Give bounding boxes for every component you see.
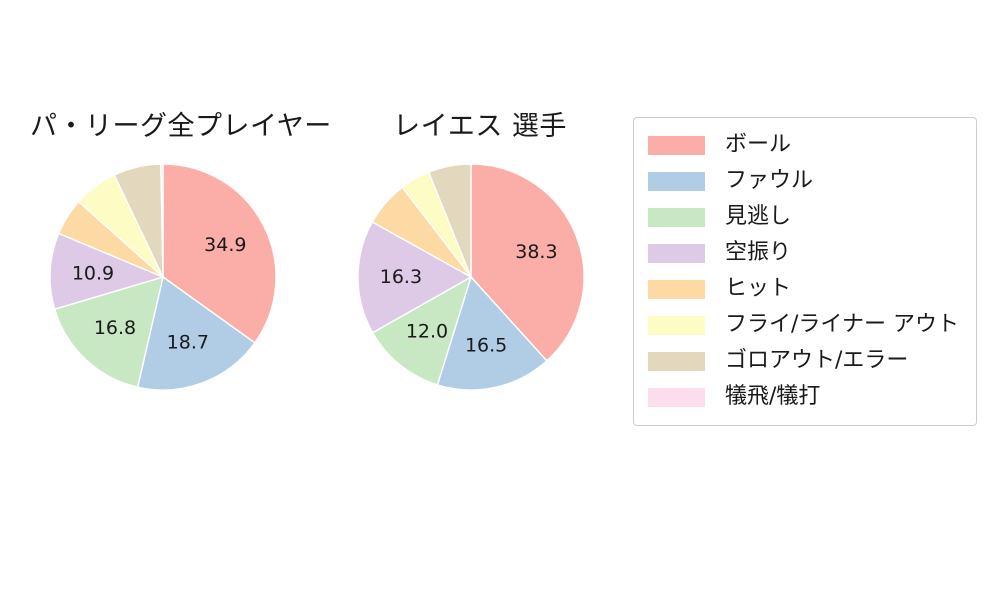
legend-label: 空振り	[725, 240, 791, 266]
legend: ボールファウル見逃し空振りヒットフライ/ライナー アウトゴロアウト/エラー犠飛/…	[633, 117, 977, 426]
legend-swatch	[648, 136, 705, 155]
legend-item[interactable]: ヒット	[648, 271, 964, 307]
pie-slice-value-label: 38.3	[515, 241, 557, 263]
pie-player: 38.316.512.016.3	[330, 162, 630, 412]
legend-swatch	[648, 208, 705, 227]
pie-league: 34.918.716.810.9	[22, 162, 322, 412]
pie-slice-value-label: 18.7	[167, 332, 209, 354]
legend-item[interactable]: ファウル	[648, 163, 964, 199]
legend-item[interactable]: 犠飛/犠打	[648, 379, 964, 415]
legend-swatch	[648, 244, 705, 263]
legend-swatch	[648, 352, 705, 371]
pie-wrap-league: 34.918.716.810.9	[22, 162, 322, 412]
legend-label: 見逃し	[725, 204, 791, 230]
pie-slice-value-label: 12.0	[406, 321, 448, 343]
legend-label: ボール	[725, 132, 791, 158]
legend-label: フライ/ライナー アウト	[725, 312, 959, 338]
pie-panel-league: パ・リーグ全プレイヤー 34.918.716.810.9	[22, 110, 322, 412]
legend-swatch	[648, 316, 705, 335]
legend-swatch	[648, 388, 705, 407]
pie-slice-value-label: 34.9	[204, 234, 246, 256]
legend-label: ファウル	[725, 168, 813, 194]
pie-title-player: レイエス 選手	[330, 110, 630, 144]
pie-panel-player: レイエス 選手 38.316.512.016.3	[330, 110, 630, 412]
pie-title-league: パ・リーグ全プレイヤー	[22, 110, 322, 144]
legend-swatch	[648, 172, 705, 191]
legend-label: 犠飛/犠打	[725, 384, 820, 410]
legend-item[interactable]: フライ/ライナー アウト	[648, 307, 964, 343]
legend-label: ゴロアウト/エラー	[725, 348, 908, 374]
legend-item[interactable]: ゴロアウト/エラー	[648, 343, 964, 379]
legend-label: ヒット	[725, 276, 791, 302]
pie-slice-value-label: 16.5	[465, 334, 507, 356]
legend-item[interactable]: ボール	[648, 127, 964, 163]
pie-slice-value-label: 16.3	[380, 266, 422, 288]
legend-item[interactable]: 空振り	[648, 235, 964, 271]
pie-chart-figure: パ・リーグ全プレイヤー 34.918.716.810.9 レイエス 選手 38.…	[0, 0, 1000, 600]
pie-wrap-player: 38.316.512.016.3	[330, 162, 630, 412]
legend-swatch	[648, 280, 705, 299]
pie-slice-value-label: 16.8	[94, 317, 136, 339]
legend-item[interactable]: 見逃し	[648, 199, 964, 235]
pie-slice-value-label: 10.9	[72, 262, 114, 284]
